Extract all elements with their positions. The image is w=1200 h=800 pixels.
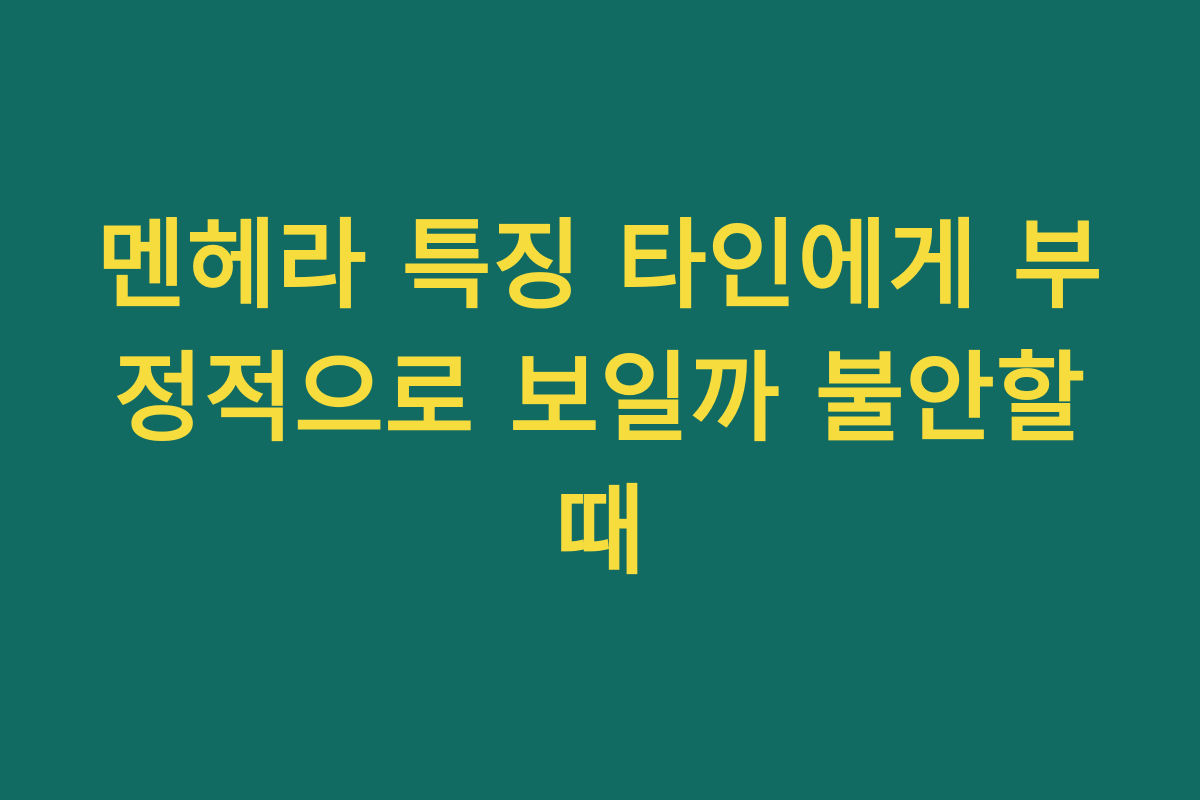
banner-background: 멘헤라 특징 타인에게 부 정적으로 보일까 불안할 때 [0, 0, 1200, 800]
headline-line-3: 때 [70, 465, 1130, 598]
headline-text: 멘헤라 특징 타인에게 부 정적으로 보일까 불안할 때 [70, 199, 1130, 598]
headline-line-1: 멘헤라 특징 타인에게 부 [70, 199, 1130, 332]
headline-line-2: 정적으로 보일까 불안할 [70, 332, 1130, 465]
